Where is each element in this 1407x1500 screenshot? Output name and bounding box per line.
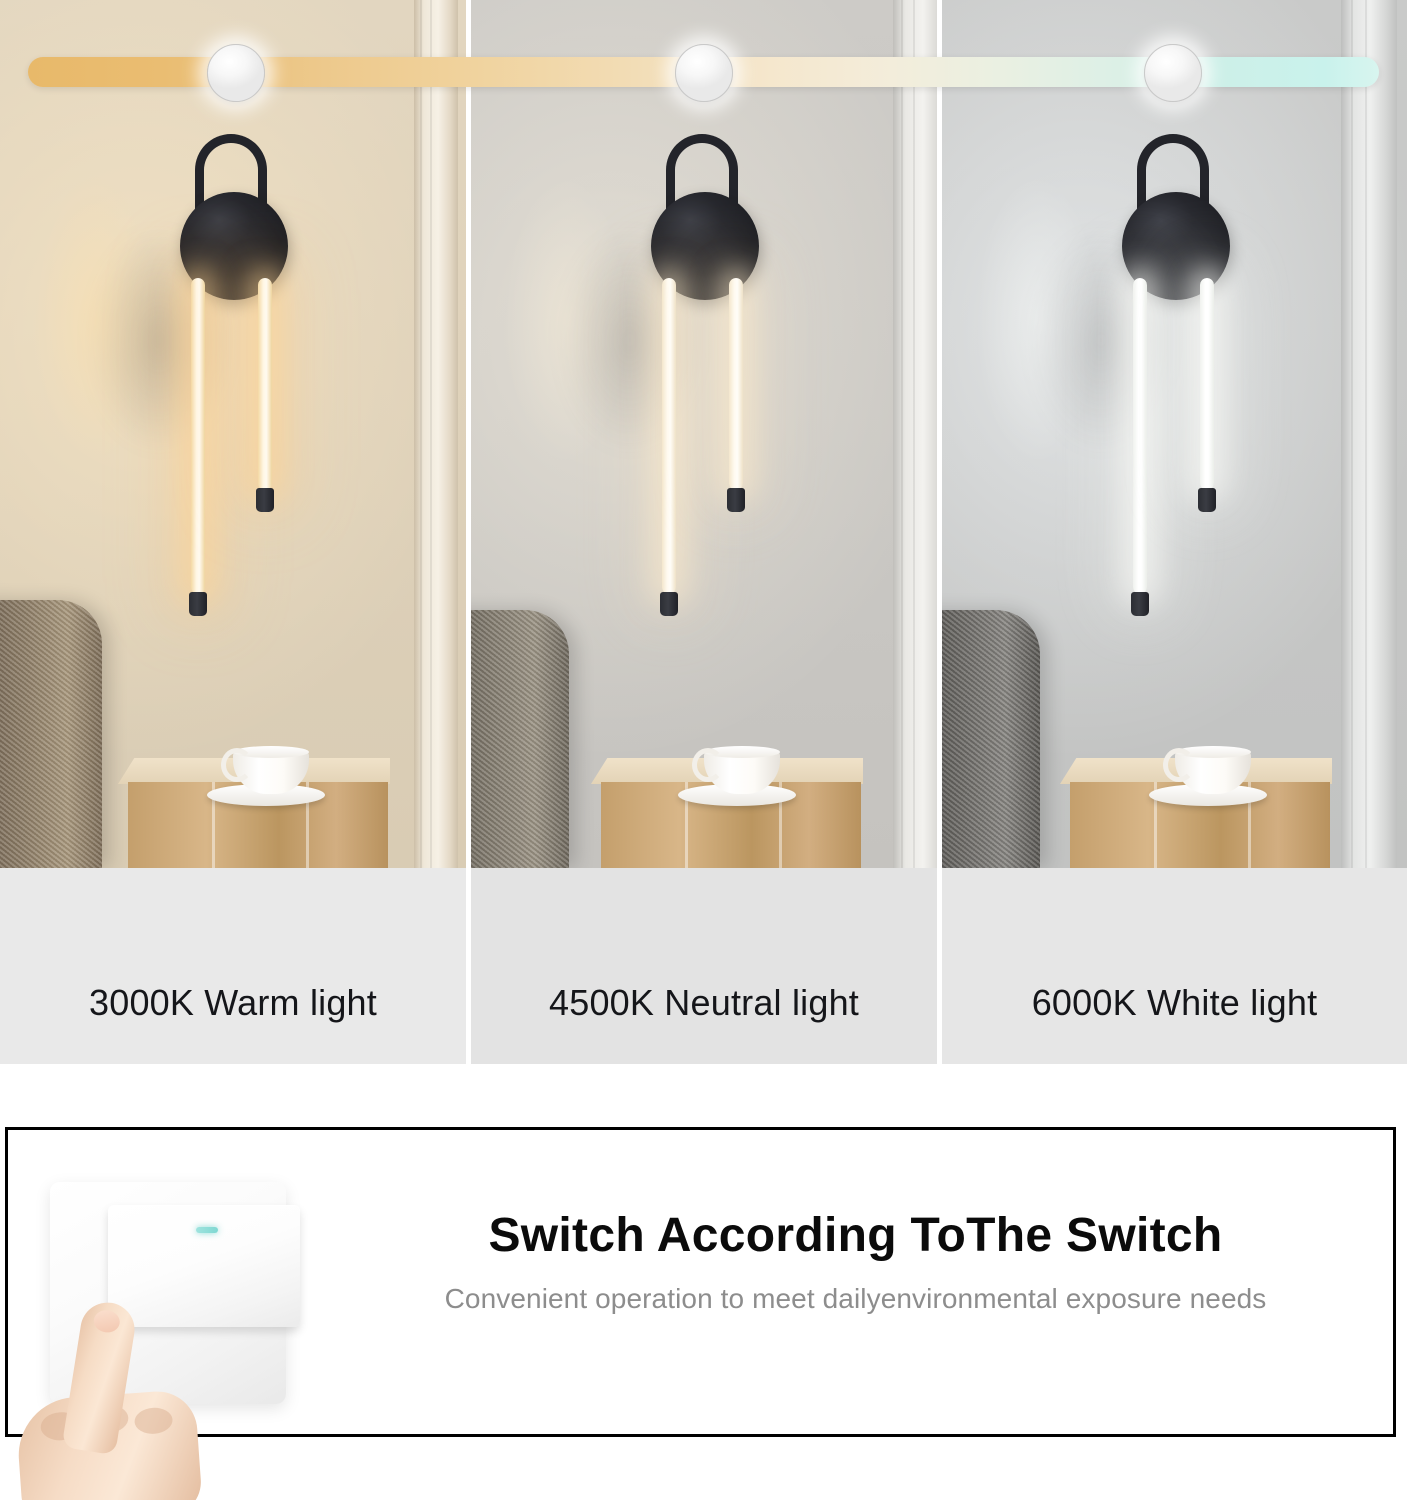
tube-end-cap bbox=[256, 488, 274, 512]
tube-glass bbox=[191, 278, 205, 594]
tube-end-cap bbox=[189, 592, 207, 616]
trim-line bbox=[430, 0, 432, 868]
cup-and-saucer bbox=[215, 742, 315, 806]
slider-knob-icon-neutral[interactable] bbox=[675, 44, 733, 102]
tube-end-cap bbox=[1131, 592, 1149, 616]
switch-copy-block: Switch According ToThe Switch Convenient… bbox=[338, 1208, 1373, 1315]
trim-line bbox=[901, 0, 903, 868]
headboard bbox=[942, 610, 1040, 868]
switch-rocker-button[interactable] bbox=[108, 1205, 300, 1327]
color-temperature-caption-band: 3000K Warm light 4500K Neutral light 600… bbox=[0, 868, 1407, 1064]
wall-sconce-lamp bbox=[1092, 130, 1292, 650]
led-indicator-icon bbox=[196, 1227, 218, 1233]
switch-photo bbox=[5, 1127, 345, 1500]
cup-handle bbox=[1163, 748, 1195, 782]
caption-label-white: 6000K White light bbox=[942, 982, 1407, 1024]
light-tube-icon bbox=[1200, 278, 1214, 490]
caption-label-neutral: 4500K Neutral light bbox=[471, 982, 937, 1024]
slider-knob-icon-white[interactable] bbox=[1144, 44, 1202, 102]
tube-end-cap bbox=[727, 488, 745, 512]
tube-end-cap bbox=[1198, 488, 1216, 512]
light-tube-icon bbox=[1133, 278, 1147, 594]
tube-glass bbox=[258, 278, 272, 490]
caption-cell-warm: 3000K Warm light bbox=[0, 868, 466, 1064]
cup-and-saucer bbox=[686, 742, 786, 806]
headboard bbox=[471, 610, 569, 868]
trim-line bbox=[1365, 0, 1367, 868]
tube-glass bbox=[662, 278, 676, 594]
knuckle bbox=[134, 1407, 174, 1436]
tube-glass bbox=[1133, 278, 1147, 594]
tube-glass bbox=[1200, 278, 1214, 490]
light-tube-icon bbox=[662, 278, 676, 594]
light-tube-icon bbox=[729, 278, 743, 490]
trim-line bbox=[913, 0, 915, 868]
caption-cell-neutral: 4500K Neutral light bbox=[471, 868, 937, 1064]
cup-and-saucer bbox=[1157, 742, 1257, 806]
headboard bbox=[0, 600, 102, 868]
trim-line bbox=[420, 0, 422, 868]
wall-sconce-lamp bbox=[621, 130, 821, 650]
fingernail bbox=[92, 1308, 121, 1334]
slider-knob-icon-warm[interactable] bbox=[207, 44, 265, 102]
wall-trim-white bbox=[1341, 0, 1397, 868]
cup-handle bbox=[692, 748, 724, 782]
scene-panel-warm[interactable] bbox=[0, 0, 466, 868]
switch-subheadline: Convenient operation to meet dailyenviro… bbox=[338, 1283, 1373, 1315]
wall-trim-neutral bbox=[893, 0, 937, 868]
wall-sconce-lamp bbox=[150, 130, 350, 650]
caption-label-warm: 3000K Warm light bbox=[0, 982, 466, 1024]
light-tube-icon bbox=[258, 278, 272, 490]
tube-end-cap bbox=[660, 592, 678, 616]
trim-line bbox=[1351, 0, 1353, 868]
scene-panel-neutral[interactable] bbox=[471, 0, 937, 868]
switch-headline: Switch According ToThe Switch bbox=[338, 1208, 1373, 1263]
light-tube-icon bbox=[191, 278, 205, 594]
wall-trim-warm bbox=[414, 0, 458, 868]
scene-panel-white[interactable] bbox=[942, 0, 1407, 868]
tube-glass bbox=[729, 278, 743, 490]
caption-cell-white: 6000K White light bbox=[942, 868, 1407, 1064]
cup-handle bbox=[221, 748, 253, 782]
color-temperature-scenes bbox=[0, 0, 1407, 868]
